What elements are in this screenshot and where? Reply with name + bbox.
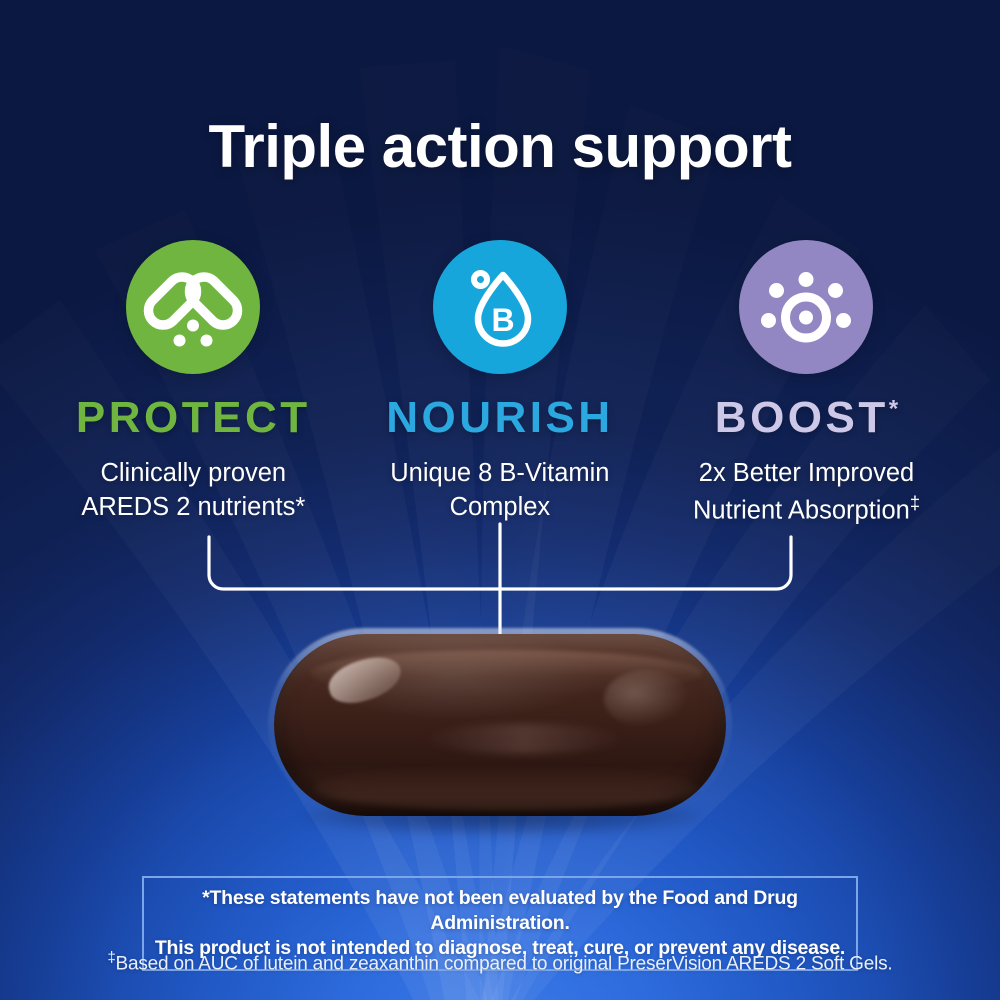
footnote-text: Based on AUC of lutein and zeaxanthin co… bbox=[116, 953, 893, 974]
protect-label: PROTECT bbox=[76, 393, 311, 442]
benefit-boost: BOOST* 2x Better Improved Nutrient Absor… bbox=[653, 240, 960, 528]
svg-text:B: B bbox=[491, 302, 514, 338]
protect-description: Clinically proven AREDS 2 nutrients* bbox=[81, 457, 305, 525]
boost-label-wrap: BOOST* bbox=[715, 396, 898, 440]
nourish-description: Unique 8 B-Vitamin Complex bbox=[390, 457, 609, 525]
boost-label: BOOST bbox=[715, 393, 889, 442]
nourish-label-wrap: NOURISH bbox=[386, 396, 613, 440]
footnote-symbol: ‡ bbox=[108, 950, 116, 966]
boost-badge bbox=[739, 240, 873, 374]
nourish-badge: B bbox=[433, 240, 567, 374]
softgel-highlight-right bbox=[604, 670, 690, 728]
softgel-capsule bbox=[268, 628, 732, 843]
softgel-highlight-center bbox=[424, 724, 624, 754]
boost-description-text: 2x Better Improved Nutrient Absorption bbox=[693, 459, 914, 524]
benefit-protect: PROTECT Clinically proven AREDS 2 nutrie… bbox=[40, 240, 347, 528]
benefit-nourish: B NOURISH Unique 8 B-Vitamin Complex bbox=[347, 240, 654, 528]
footnote: ‡Based on AUC of lutein and zeaxanthin c… bbox=[0, 950, 1000, 975]
protect-badge bbox=[126, 240, 260, 374]
benefit-columns: PROTECT Clinically proven AREDS 2 nutrie… bbox=[40, 240, 960, 528]
page-title: Triple action support bbox=[0, 112, 1000, 181]
boost-label-superscript: * bbox=[889, 395, 898, 422]
softgel-base-gloss bbox=[314, 766, 698, 810]
softgel-body bbox=[274, 634, 726, 816]
radiating-eye-icon bbox=[754, 255, 858, 359]
protect-label-wrap: PROTECT bbox=[76, 396, 311, 440]
nourish-label: NOURISH bbox=[386, 393, 613, 442]
b-vitamin-droplet-icon: B bbox=[448, 255, 552, 359]
crossed-capsules-icon bbox=[141, 255, 245, 359]
infographic-canvas: Triple action support PROTECT Clinically bbox=[0, 0, 1000, 1000]
boost-description-superscript: ‡ bbox=[910, 492, 920, 513]
boost-description: 2x Better Improved Nutrient Absorption‡ bbox=[693, 457, 920, 528]
